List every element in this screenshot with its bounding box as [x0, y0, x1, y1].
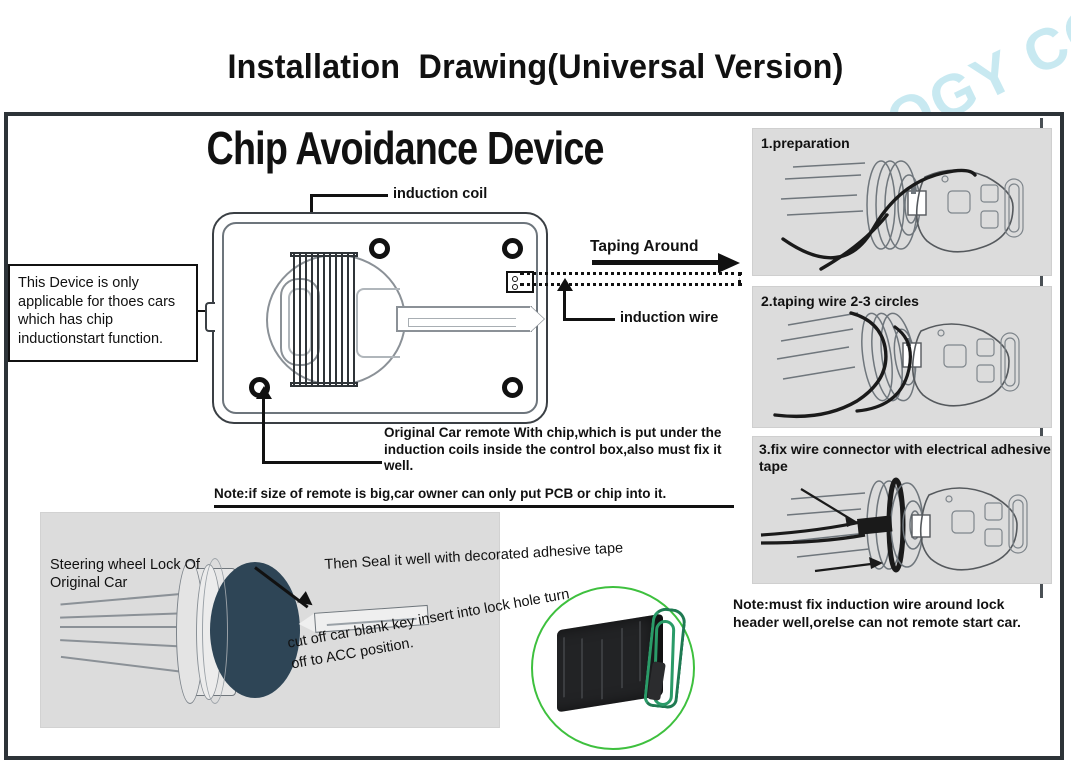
coil-leader-horizontal — [310, 194, 388, 197]
note-fix-induction-wire: Note:must fix induction wire around lock… — [733, 596, 1053, 631]
step-caption: 3.fix wire connector with electrical adh… — [759, 441, 1051, 475]
lock-shaft-line — [60, 626, 192, 628]
note-size-underline — [214, 505, 734, 508]
note-original-car-remote: Original Car remote With chip,which is p… — [384, 425, 752, 475]
remote-note-leader-vertical — [262, 398, 265, 464]
key-blade — [396, 306, 532, 332]
induction-wire-leader-vertical — [563, 290, 566, 321]
connector-pin — [512, 284, 518, 290]
page-title: Installation Drawing(Universal Version) — [27, 48, 1044, 87]
screw-hole — [502, 377, 523, 398]
connector-pin — [512, 276, 518, 282]
label-induction-coil: induction coil — [393, 186, 487, 202]
step-panel-taping-wire: 2.taping wire 2-3 circles — [752, 286, 1052, 428]
device-applicability-callout: This Device is only applicable for thoes… — [8, 264, 198, 362]
label-induction-wire: induction wire — [620, 310, 718, 326]
note-remote-size: Note:if size of remote is big,car owner … — [214, 486, 666, 501]
step-panel-preparation: 1.preparation — [752, 128, 1052, 276]
induction-wire-leader-horizontal — [563, 318, 615, 321]
screw-hole — [369, 238, 390, 259]
label-steering-wheel-lock: Steering wheel Lock Of Original Car — [50, 556, 240, 592]
induction-wire-dotted-end — [738, 272, 741, 284]
screw-hole — [502, 238, 523, 259]
taping-arrow-shaft — [592, 260, 720, 265]
key-blade-tip — [530, 306, 544, 332]
key-head-notch — [356, 288, 400, 358]
induction-coil-windings — [290, 252, 358, 387]
control-box-left-tab — [205, 302, 215, 332]
main-heading: Chip Avoidance Device — [196, 124, 614, 172]
induction-wire-dotted-lower — [520, 283, 742, 286]
step-caption: 2.taping wire 2-3 circles — [761, 293, 919, 310]
label-taping-around: Taping Around — [590, 238, 698, 256]
step-panel-fix-connector: 3.fix wire connector with electrical adh… — [752, 436, 1052, 584]
installation-drawing-page: ONGYU TECHNOLOGY CO.,LIMITED Store No.90… — [0, 0, 1071, 768]
taping-arrow-icon — [718, 253, 740, 273]
step-caption: 1.preparation — [761, 135, 850, 152]
remote-note-leader-horizontal — [262, 461, 382, 464]
induction-wire-dotted-upper — [520, 272, 742, 275]
